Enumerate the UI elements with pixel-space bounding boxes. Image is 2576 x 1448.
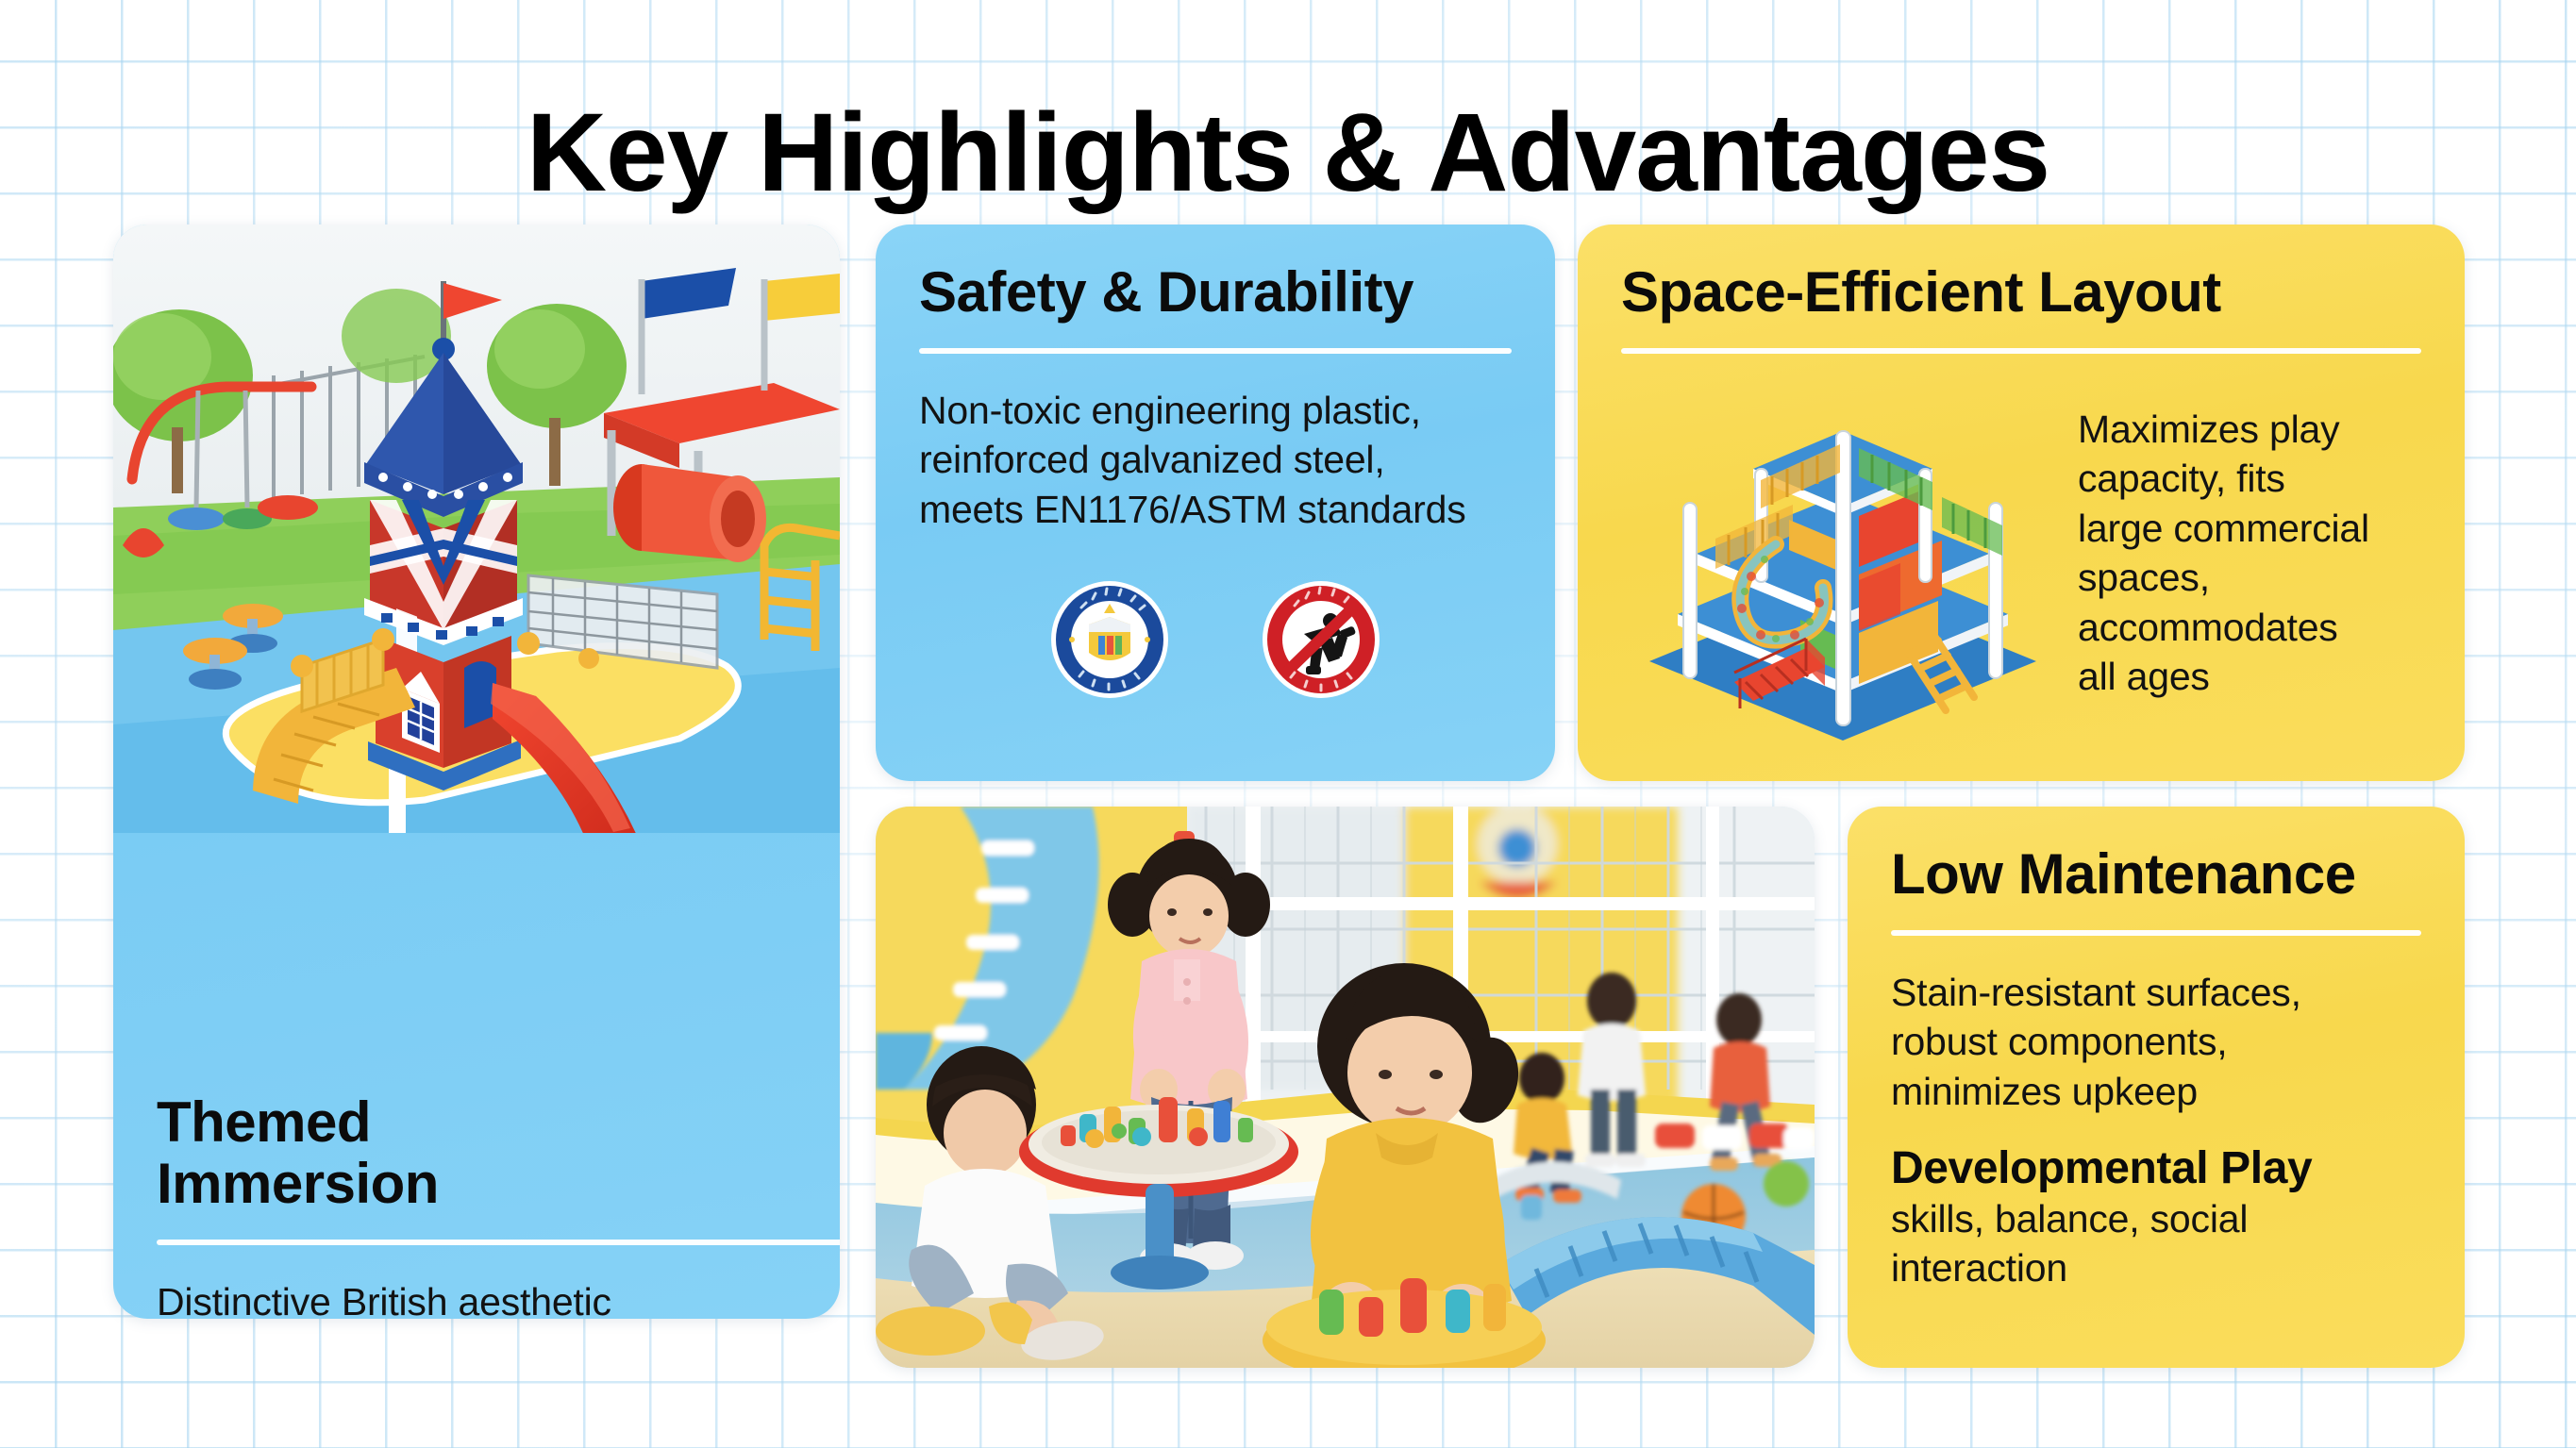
card-title-low-maintenance: Low Maintenance <box>1891 844 2421 906</box>
uk-themed-playground-illustration <box>113 225 840 833</box>
space-efficient-content: Space-Efficient Layout <box>1578 225 2465 756</box>
subheading-developmental-play: Developmental Play <box>1891 1144 2421 1194</box>
divider-safety-durability <box>919 348 1512 354</box>
certification-badges-row <box>919 579 1512 700</box>
divider-low-maintenance <box>1891 930 2421 936</box>
themed-immersion-text-block: Themed Immersion Distinctive British aes… <box>113 1055 840 1319</box>
card-safety-durability: Safety & Durability Non-toxic engineerin… <box>876 225 1555 781</box>
card-body-themed-immersion: Distinctive British aesthetic draws fami… <box>157 1277 840 1319</box>
space-efficient-text-column: Maximizes play capacity, fits large comm… <box>2065 386 2421 702</box>
page-title: Key Highlights & Advantages <box>0 95 2576 212</box>
low-maintenance-content: Low Maintenance Stain-resistant surfaces… <box>1848 807 2465 1293</box>
card-low-maintenance: Low Maintenance Stain-resistant surfaces… <box>1848 807 2465 1368</box>
divider-themed-immersion <box>157 1240 840 1245</box>
certification-seal-badge <box>1049 579 1170 700</box>
multi-level-play-structure-illustration <box>1621 378 2065 756</box>
divider-space-efficient-layout <box>1621 348 2421 354</box>
children-indoor-playground-photo <box>876 807 1815 1368</box>
card-body-developmental-play: skills, balance, social interaction <box>1891 1194 2421 1293</box>
safety-durability-content: Safety & Durability Non-toxic engineerin… <box>876 225 1555 700</box>
card-body-low-maintenance: Stain-resistant surfaces, robust compone… <box>1891 968 2421 1116</box>
prohibition-sign-badge <box>1261 579 1381 700</box>
card-title-space-efficient-layout: Space-Efficient Layout <box>1621 262 2421 324</box>
card-body-safety-durability: Non-toxic engineering plastic, reinforce… <box>919 386 1512 534</box>
card-space-efficient-layout: Space-Efficient Layout <box>1578 225 2465 781</box>
card-title-themed-immersion: Themed Immersion <box>157 1092 840 1215</box>
card-body-space-efficient-layout: Maximizes play capacity, fits large comm… <box>2078 405 2421 702</box>
card-themed-immersion: Themed Immersion Distinctive British aes… <box>113 225 840 1319</box>
card-title-safety-durability: Safety & Durability <box>919 262 1512 324</box>
